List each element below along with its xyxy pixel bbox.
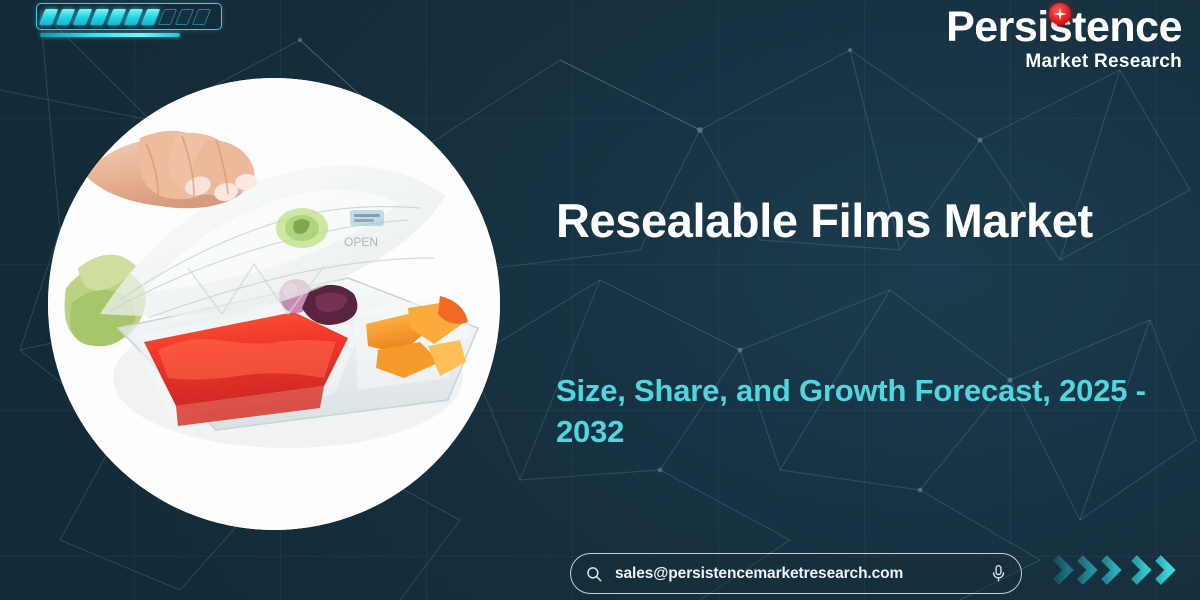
loading-progress-badge bbox=[36, 3, 222, 30]
chevron-decoration bbox=[1052, 550, 1184, 590]
loading-underline-bar bbox=[40, 33, 180, 37]
search-icon[interactable] bbox=[585, 565, 603, 583]
progress-segment-filled bbox=[56, 9, 75, 25]
brand-tagline: Market Research bbox=[946, 51, 1182, 73]
progress-segment-filled bbox=[141, 9, 160, 25]
email-search-bar[interactable]: sales@persistencemarketresearch.com bbox=[570, 553, 1022, 594]
progress-segment-empty bbox=[175, 9, 194, 25]
progress-segment-filled bbox=[124, 9, 143, 25]
product-photo-illustration: OPEN bbox=[48, 78, 500, 530]
email-address-text[interactable]: sales@persistencemarketresearch.com bbox=[615, 565, 990, 583]
page-title: Resealable Films Market bbox=[556, 196, 1156, 247]
progress-segment-empty bbox=[192, 9, 211, 25]
brand-logo: Persistence Market Research bbox=[946, 6, 1182, 73]
svg-text:OPEN: OPEN bbox=[344, 235, 378, 249]
resealable-film-fruit-tray-photo: OPEN bbox=[48, 78, 500, 530]
red-star-dot-icon bbox=[1049, 3, 1071, 25]
progress-segment-filled bbox=[39, 9, 58, 25]
chevron-right-icon-group bbox=[1052, 550, 1184, 590]
market-report-banner: Persistence Market Research bbox=[0, 0, 1200, 600]
progress-segment-filled bbox=[90, 9, 109, 25]
microphone-icon[interactable] bbox=[990, 564, 1007, 583]
progress-segment-empty bbox=[158, 9, 177, 25]
page-subtitle: Size, Share, and Growth Forecast, 2025 -… bbox=[556, 371, 1176, 453]
progress-segment-filled bbox=[73, 9, 92, 25]
progress-segment-filled bbox=[107, 9, 126, 25]
